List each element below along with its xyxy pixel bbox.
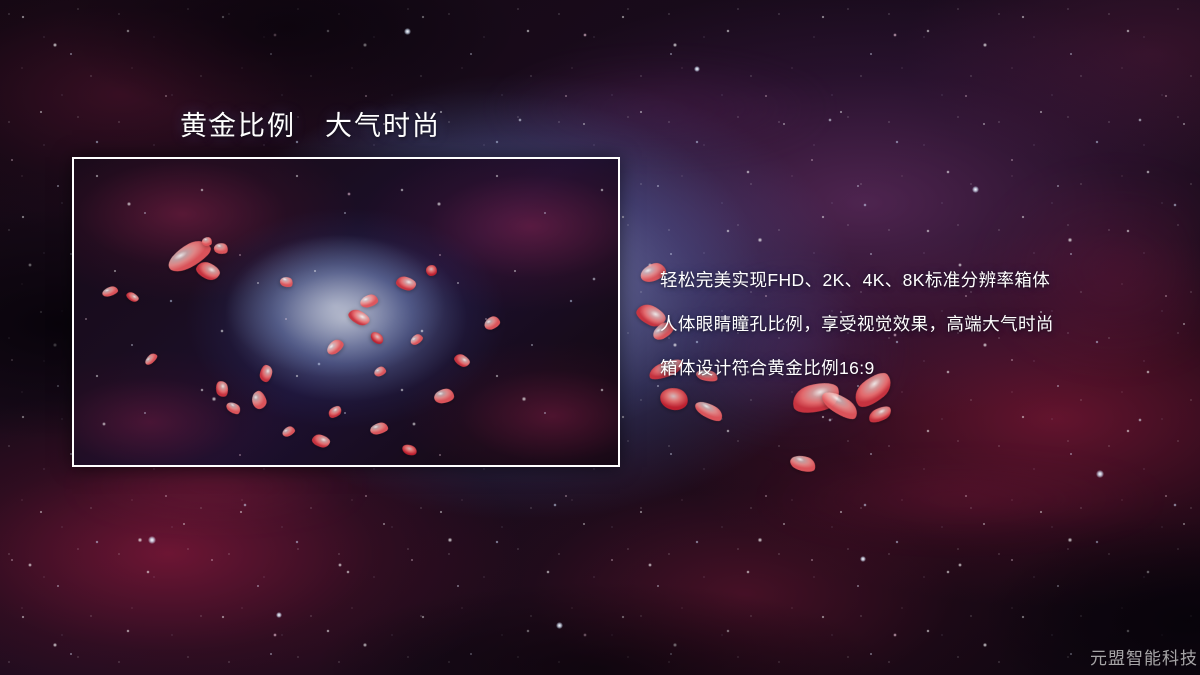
flower-petal: [693, 397, 726, 424]
flower-petal: [818, 386, 861, 423]
flower-petal: [788, 452, 817, 474]
bright-star: [276, 612, 282, 618]
presentation-slide: 黄金比例 大气时尚: [0, 0, 1200, 675]
bright-star: [860, 556, 866, 562]
bright-star: [556, 622, 563, 629]
flower-petal: [866, 403, 893, 425]
bright-star: [404, 28, 411, 35]
bright-star: [694, 66, 700, 72]
body-line: 人体眼睛瞳孔比例，享受视觉效果，高端大气时尚: [660, 302, 1180, 346]
framed-image-panel: [72, 157, 620, 467]
bright-star: [1096, 470, 1104, 478]
body-line: 轻松完美实现FHD、2K、4K、8K标准分辨率箱体: [660, 258, 1180, 302]
body-text-block: 轻松完美实现FHD、2K、4K、8K标准分辨率箱体 人体眼睛瞳孔比例，享受视觉效…: [660, 258, 1180, 390]
bright-star: [972, 186, 979, 193]
watermark-text: 元盟智能科技: [1090, 644, 1198, 669]
body-line: 箱体设计符合黄金比例16:9: [660, 346, 1180, 390]
slide-title: 黄金比例 大气时尚: [180, 104, 441, 143]
panel-nebula-image: [74, 159, 618, 465]
bright-star: [148, 536, 156, 544]
